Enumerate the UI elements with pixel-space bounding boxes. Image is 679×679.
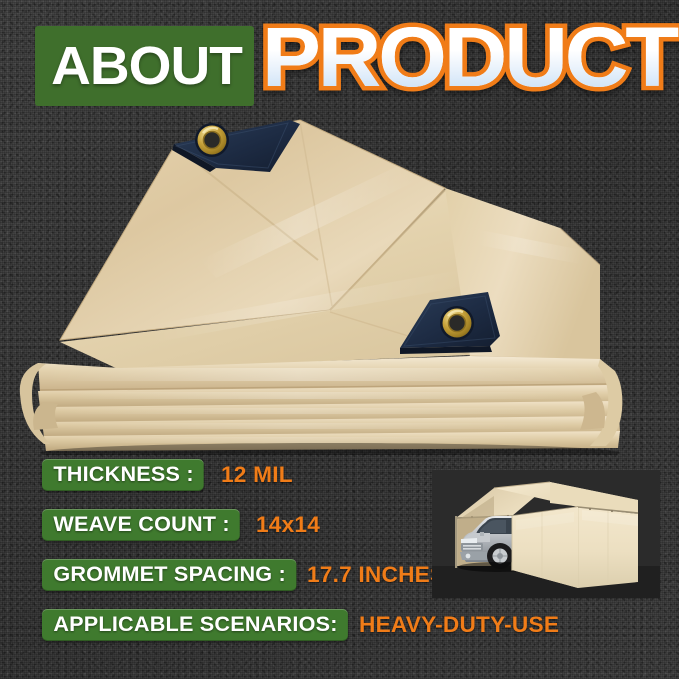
spec-value-grommet-spacing: 17.7 INCHES — [307, 562, 445, 588]
tarp-illustration — [0, 110, 679, 455]
about-label: ABOUT — [51, 39, 242, 93]
spec-label-grommet-spacing: GROMMET SPACING : — [42, 559, 296, 591]
spec-label-applicable-scenarios: APPLICABLE SCENARIOS: — [42, 609, 348, 641]
carport-illustration — [432, 470, 660, 598]
spec-value-weave-count: 14x14 — [256, 512, 320, 538]
spec-label-thickness: THICKNESS : — [42, 459, 204, 491]
header: ABOUT PRODUCT PRODUCT — [0, 24, 679, 108]
spec-row-applicable-scenarios: APPLICABLE SCENARIOS: HEAVY-DUTY-USE — [42, 608, 642, 642]
spec-value-thickness: 12 MIL — [221, 462, 293, 488]
carport-inset-photo — [432, 470, 660, 598]
spec-value-applicable-scenarios: HEAVY-DUTY-USE — [359, 612, 559, 638]
tarp-product-photo — [0, 110, 679, 455]
product-label-stroke: PRODUCT — [262, 15, 676, 99]
product-infographic: ABOUT PRODUCT PRODUCT — [0, 0, 679, 679]
spec-label-weave-count: WEAVE COUNT : — [42, 509, 240, 541]
about-chip: ABOUT — [35, 26, 254, 106]
